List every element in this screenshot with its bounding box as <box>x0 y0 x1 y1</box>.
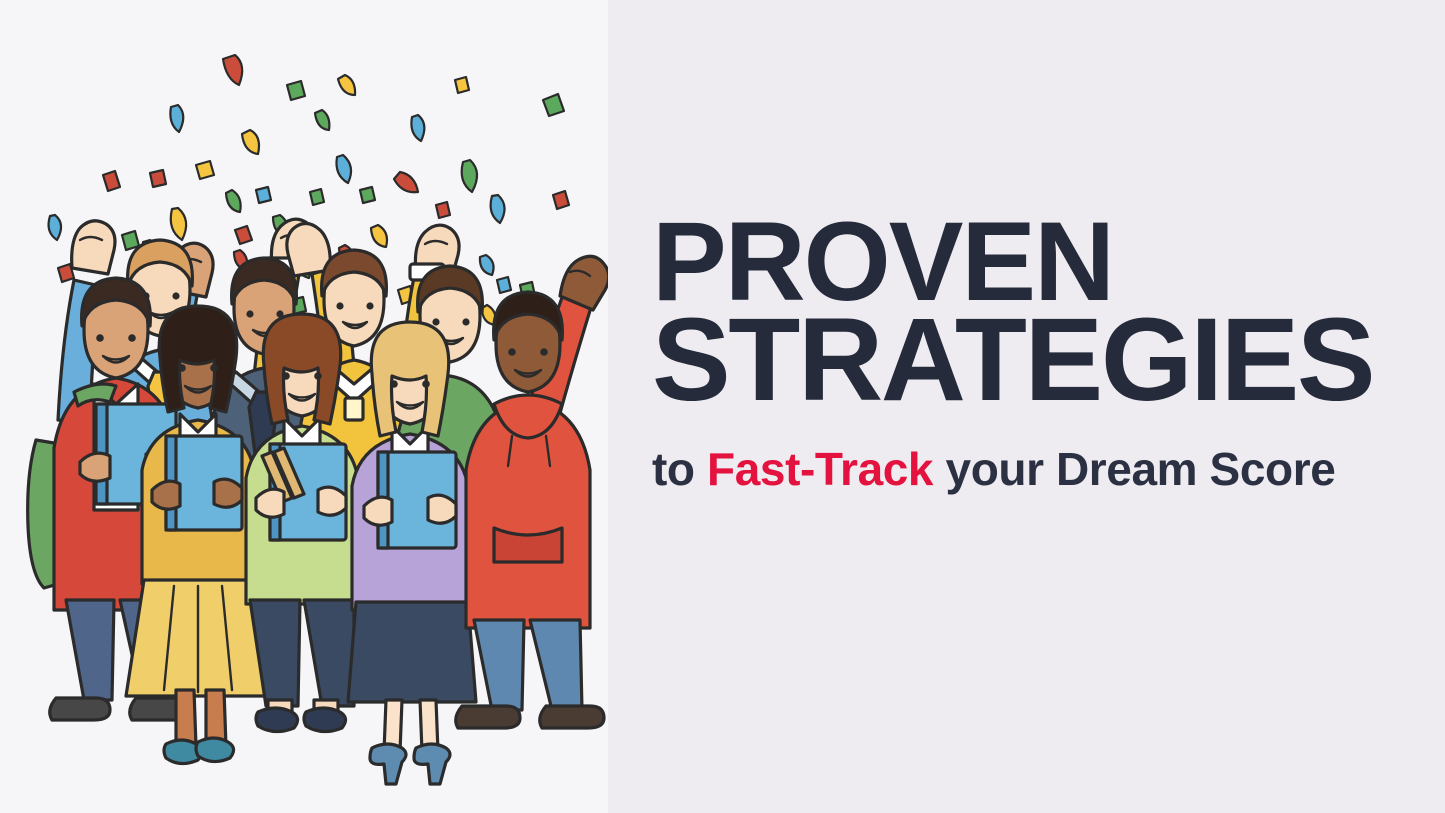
text-column: PROVEN STRATEGIES to Fast-Track your Dre… <box>652 0 1445 813</box>
headline: PROVEN STRATEGIES <box>652 214 1412 412</box>
promo-banner: .o { stroke:#2B2B2B; stroke-width:3.2; s… <box>0 0 1445 813</box>
illustration-panel: .o { stroke:#2B2B2B; stroke-width:3.2; s… <box>0 0 608 813</box>
subheadline-prefix: to <box>652 443 707 495</box>
subheadline: to Fast-Track your Dream Score <box>652 442 1432 496</box>
headline-line-2: STRATEGIES <box>652 310 1412 411</box>
subheadline-highlight: Fast-Track <box>707 443 933 495</box>
headline-line-1: PROVEN <box>652 214 1412 310</box>
celebrating-students-illustration: .o { stroke:#2B2B2B; stroke-width:3.2; s… <box>0 0 608 813</box>
subheadline-suffix: your Dream Score <box>933 443 1335 495</box>
